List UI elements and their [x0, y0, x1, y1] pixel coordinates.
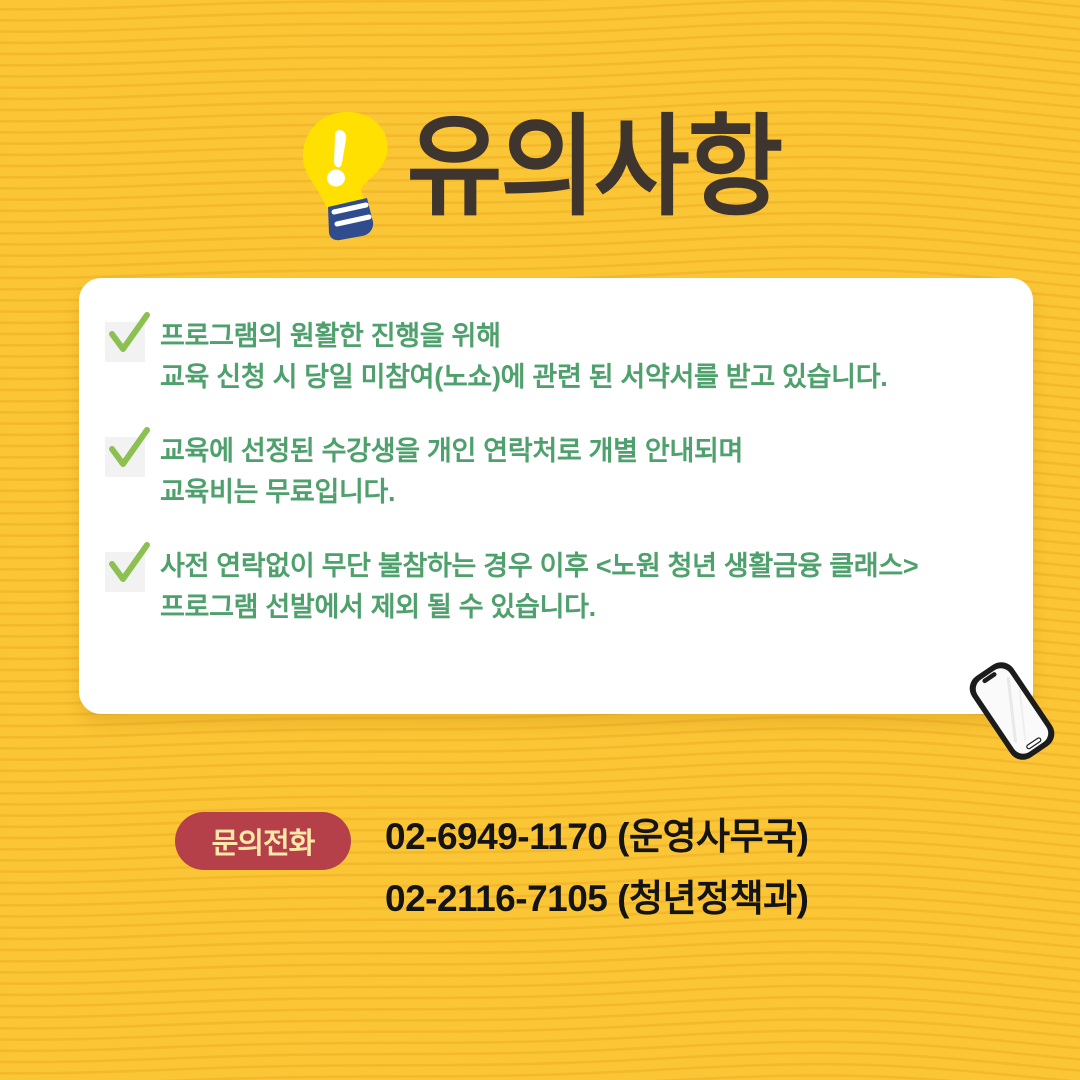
notice-text: 교육에 선정된 수강생을 개인 연락처로 개별 안내되며 교육비는 무료입니다.	[160, 431, 743, 513]
contact-numbers: 02-6949-1170 (운영사무국) 02-2116-7105 (청년정책과…	[385, 806, 809, 930]
notice-line: 프로그램의 원활한 진행을 위해	[160, 316, 887, 357]
notice-text: 프로그램의 원활한 진행을 위해 교육 신청 시 당일 미참여(노쇼)에 관련 …	[160, 316, 887, 398]
phone-number[interactable]: 02-6949-1170 (운영사무국)	[385, 806, 809, 868]
check-mark-icon	[105, 437, 145, 477]
phone-number[interactable]: 02-2116-7105 (청년정책과)	[385, 868, 809, 930]
notice-line: 교육 신청 시 당일 미참여(노쇼)에 관련 된 서약서를 받고 있습니다.	[160, 357, 887, 398]
notice-block: 사전 연락없이 무단 불참하는 경우 이후 <노원 청년 생활금융 클래스> 프…	[105, 546, 1007, 628]
smartphone-icon	[957, 656, 1067, 766]
page-header: 유의사항	[0, 96, 1080, 246]
notice-line: 사전 연락없이 무단 불참하는 경우 이후 <노원 청년 생활금융 클래스>	[160, 546, 918, 587]
notice-card: 프로그램의 원활한 진행을 위해 교육 신청 시 당일 미참여(노쇼)에 관련 …	[79, 278, 1033, 714]
page-title: 유의사항	[407, 113, 782, 230]
check-mark-icon	[105, 322, 145, 362]
notice-text: 사전 연락없이 무단 불참하는 경우 이후 <노원 청년 생활금융 클래스> 프…	[160, 546, 918, 628]
contact-section: 문의전화 02-6949-1170 (운영사무국) 02-2116-7105 (…	[175, 806, 935, 930]
notice-block: 프로그램의 원활한 진행을 위해 교육 신청 시 당일 미참여(노쇼)에 관련 …	[105, 316, 1007, 398]
notice-line: 교육비는 무료입니다.	[160, 472, 743, 513]
status-badge: 문의전화	[175, 812, 351, 870]
notice-line: 프로그램 선발에서 제외 될 수 있습니다.	[160, 587, 918, 628]
notice-block: 교육에 선정된 수강생을 개인 연락처로 개별 안내되며 교육비는 무료입니다.	[105, 431, 1007, 513]
check-mark-icon	[105, 552, 145, 592]
lightbulb-exclamation-icon	[299, 108, 395, 244]
notice-line: 교육에 선정된 수강생을 개인 연락처로 개별 안내되며	[160, 431, 743, 472]
